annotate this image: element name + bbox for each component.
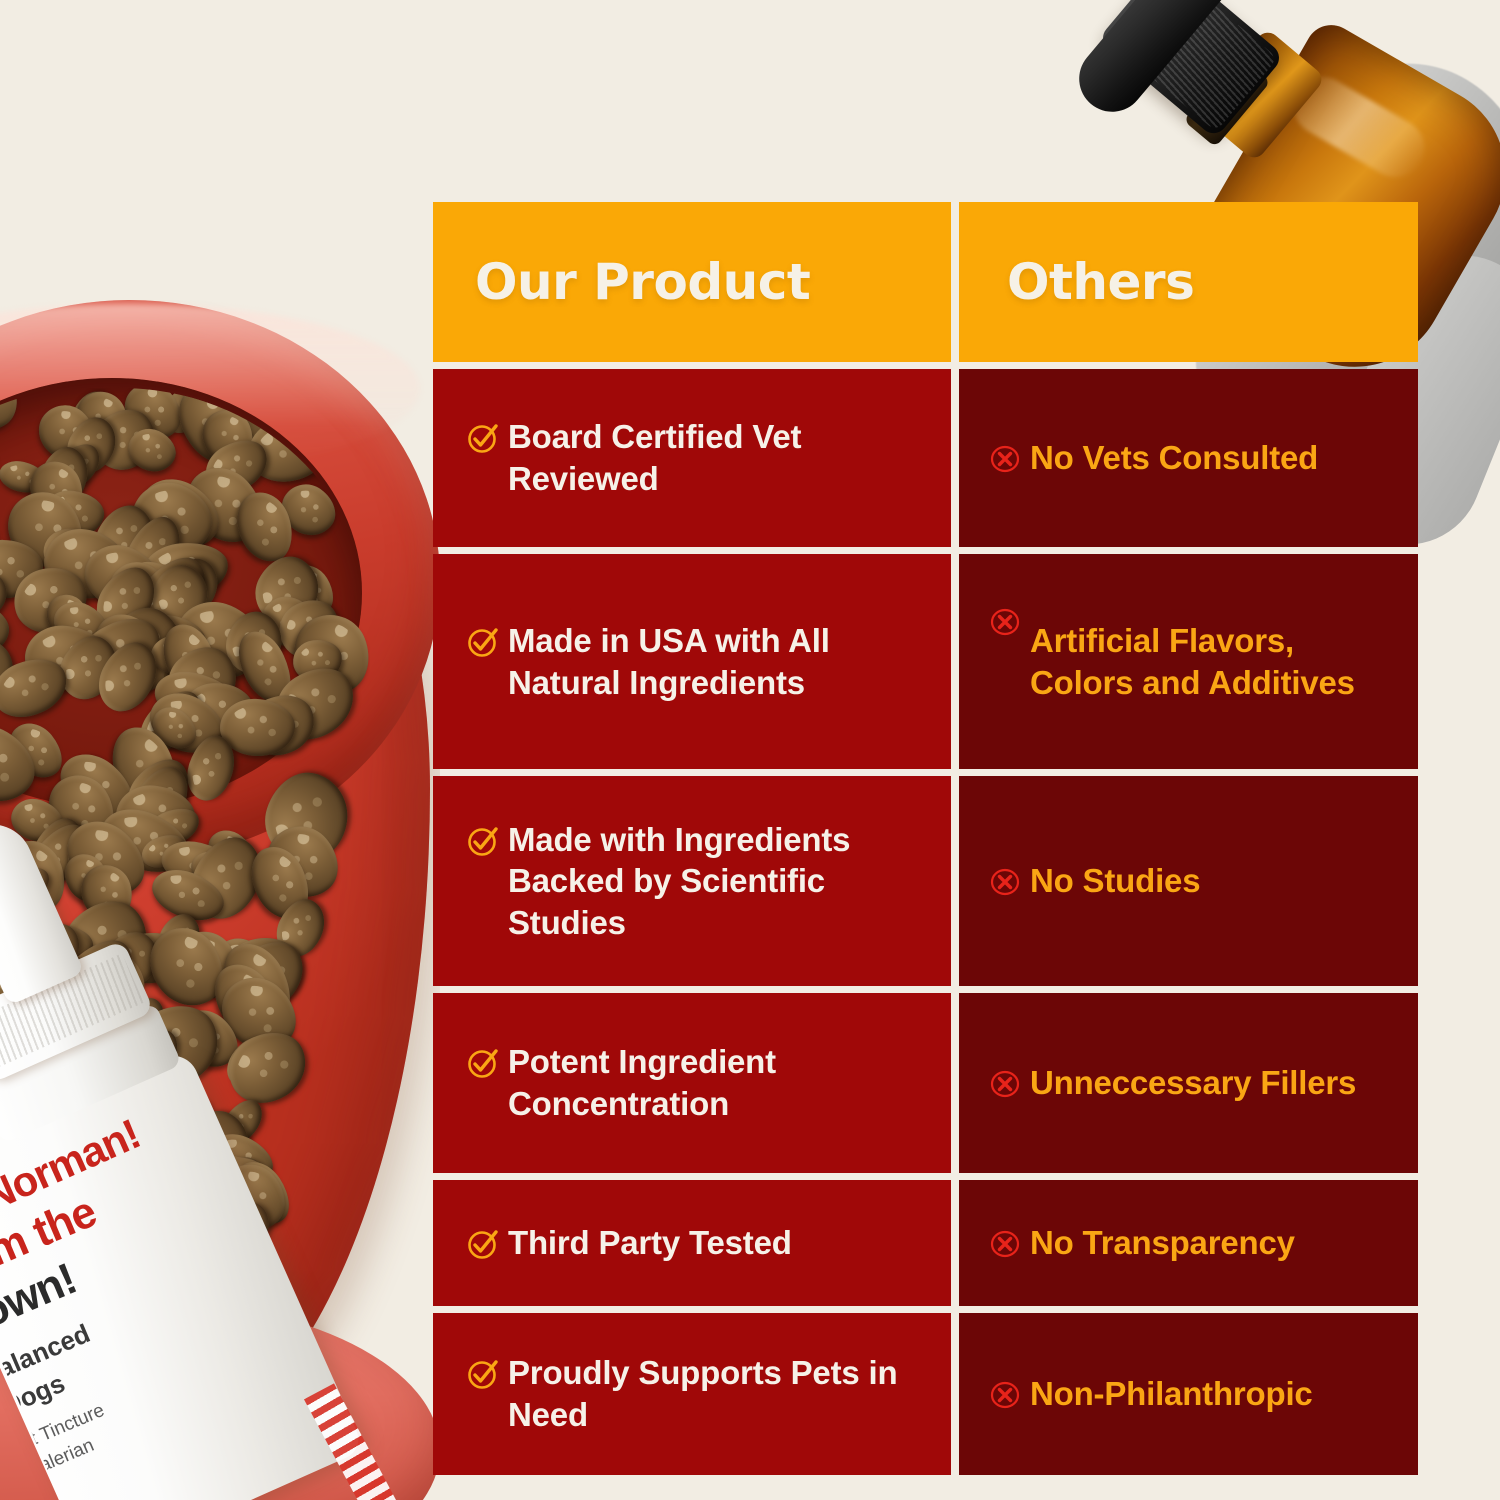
feature-text: Proudly Supports Pets in Need xyxy=(508,1352,931,1435)
feature-item: Proudly Supports Pets in Need xyxy=(467,1352,931,1435)
cell-others: No Vets Consulted xyxy=(959,369,1418,547)
cell-others: Unneccessary Fillers xyxy=(959,993,1418,1173)
feature-item: Third Party Tested xyxy=(467,1222,792,1264)
cell-our-product: Third Party Tested xyxy=(433,1180,951,1306)
table-row: Made in USA with All Natural Ingredients… xyxy=(433,554,1418,769)
x-circle-icon xyxy=(989,1068,1021,1100)
check-circle-icon xyxy=(467,1047,499,1079)
feature-item: Potent Ingredient Concentration xyxy=(467,1041,931,1124)
table-row: Board Certified Vet Reviewed No Vets Con… xyxy=(433,369,1418,547)
feature-item: Artificial Flavors, Colors and Additives xyxy=(989,620,1402,703)
kibble-piece xyxy=(0,388,29,442)
cell-others: Artificial Flavors, Colors and Additives xyxy=(959,554,1418,769)
cell-our-product: Potent Ingredient Concentration xyxy=(433,993,951,1173)
column-header-label: Others xyxy=(959,253,1194,311)
cell-our-product: Board Certified Vet Reviewed xyxy=(433,369,951,547)
x-circle-icon xyxy=(989,606,1021,638)
product-comparison-graphic: Oh Norman! Calm the Down! Balanced Dogs … xyxy=(0,0,1500,1500)
cell-our-product: Made with Ingredients Backed by Scientif… xyxy=(433,776,951,986)
dog-bowl-photo: Oh Norman! Calm the Down! Balanced Dogs … xyxy=(0,300,440,1500)
table-header-row: Our Product Others xyxy=(433,202,1418,362)
cell-others: No Transparency xyxy=(959,1180,1418,1306)
feature-text: Third Party Tested xyxy=(508,1222,792,1264)
check-circle-icon xyxy=(467,1358,499,1390)
comparison-table: Our Product Others Board Certified Vet R… xyxy=(433,202,1418,1447)
cell-our-product: Made in USA with All Natural Ingredients xyxy=(433,554,951,769)
feature-text: No Studies xyxy=(1030,860,1200,902)
column-header-others: Others xyxy=(959,202,1418,362)
feature-text: Made with Ingredients Backed by Scientif… xyxy=(508,819,931,944)
feature-item: Non-Philanthropic xyxy=(989,1373,1313,1415)
x-circle-icon xyxy=(989,443,1021,475)
feature-item: No Studies xyxy=(989,860,1200,902)
feature-text: Potent Ingredient Concentration xyxy=(508,1041,931,1124)
check-circle-icon xyxy=(467,422,499,454)
table-row: Made with Ingredients Backed by Scientif… xyxy=(433,776,1418,986)
column-header-our-product: Our Product xyxy=(433,202,951,362)
x-circle-icon xyxy=(989,866,1021,898)
feature-text: Made in USA with All Natural Ingredients xyxy=(508,620,931,703)
cell-our-product: Proudly Supports Pets in Need xyxy=(433,1313,951,1475)
table-row: Potent Ingredient Concentration Unnecces… xyxy=(433,993,1418,1173)
feature-item: Board Certified Vet Reviewed xyxy=(467,416,931,499)
feature-text: No Vets Consulted xyxy=(1030,437,1318,479)
column-header-label: Our Product xyxy=(433,253,810,311)
x-circle-icon xyxy=(989,1228,1021,1260)
feature-text: Non-Philanthropic xyxy=(1030,1373,1313,1415)
feature-item: Made in USA with All Natural Ingredients xyxy=(467,620,931,703)
feature-text: Artificial Flavors, Colors and Additives xyxy=(1030,620,1402,703)
feature-item: Unneccessary Fillers xyxy=(989,1062,1356,1104)
bottle-dropper-tip xyxy=(0,811,84,1005)
cell-others: No Studies xyxy=(959,776,1418,986)
feature-item: Made with Ingredients Backed by Scientif… xyxy=(467,819,931,944)
table-row: Third Party Tested No Transparency xyxy=(433,1180,1418,1306)
feature-item: No Transparency xyxy=(989,1222,1295,1264)
feature-text: No Transparency xyxy=(1030,1222,1295,1264)
check-circle-icon xyxy=(467,825,499,857)
check-circle-icon xyxy=(467,626,499,658)
check-circle-icon xyxy=(467,1228,499,1260)
cell-others: Non-Philanthropic xyxy=(959,1313,1418,1475)
feature-text: Board Certified Vet Reviewed xyxy=(508,416,931,499)
table-row: Proudly Supports Pets in Need Non-Philan… xyxy=(433,1313,1418,1475)
x-circle-icon xyxy=(989,1379,1021,1411)
feature-item: No Vets Consulted xyxy=(989,437,1318,479)
feature-text: Unneccessary Fillers xyxy=(1030,1062,1356,1104)
